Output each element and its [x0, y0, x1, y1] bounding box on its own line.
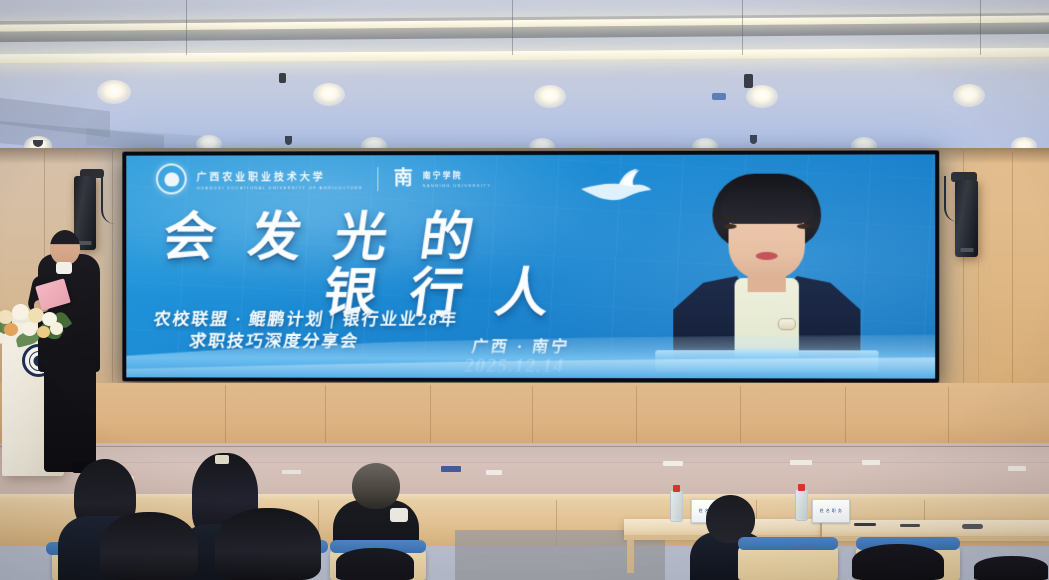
attendee-shirt-collar: [390, 508, 408, 522]
led-screen[interactable]: 广西农业职业技术大学 GUANGXI VOCATIONAL UNIVERSITY…: [122, 150, 939, 382]
floor-item: [663, 461, 683, 466]
water-bottle[interactable]: [795, 489, 808, 521]
logo-divider: [378, 167, 379, 191]
table-cable-port: [962, 524, 983, 529]
led-screen-surface: 广西农业职业技术大学 GUANGXI VOCATIONAL UNIVERSITY…: [126, 154, 935, 378]
attendee-head: [352, 463, 400, 509]
portrait-eye: [797, 224, 810, 229]
ceiling-emergency-sign: [712, 93, 726, 100]
floor-item: [1008, 466, 1026, 471]
ceiling-sensor: [285, 136, 292, 145]
ceiling-downlight: [313, 83, 345, 106]
water-bottle[interactable]: [670, 490, 683, 522]
floor-item: [282, 470, 301, 474]
attendee-head: [215, 508, 321, 580]
ceiling-downlight: [97, 80, 131, 104]
university-crest-icon: [156, 163, 187, 194]
floor-item: [862, 460, 880, 465]
projector-mount: [744, 74, 753, 88]
ceiling-downlight: [534, 85, 566, 108]
pen[interactable]: [854, 523, 876, 526]
ceiling: [0, 0, 1049, 152]
logo-right-name-en: NANNING UNIVERSITY: [423, 183, 492, 188]
portrait-eyebrow: [796, 217, 812, 220]
portrait-name-badge: [778, 318, 796, 330]
presenter-head: [50, 230, 80, 265]
portrait-eyebrow: [721, 217, 737, 220]
wall-speaker-right: [955, 180, 978, 257]
ceiling-sensor: [750, 135, 757, 144]
audience-chair-cushion: [738, 537, 838, 550]
screen-logo-bar: 广西农业职业技术大学 GUANGXI VOCATIONAL UNIVERSITY…: [156, 163, 491, 194]
presenter-legs: [44, 360, 96, 472]
ceiling-sensor: [279, 73, 286, 83]
logo-right-name-cn: 南宁学院: [423, 170, 492, 181]
portrait-eye: [723, 224, 736, 229]
conference-hall-photo: 广西农业职业技术大学 GUANGXI VOCATIONAL UNIVERSITY…: [0, 0, 1049, 580]
ceiling-light-strip-2: [0, 48, 1049, 64]
attendee-head: [852, 544, 944, 580]
name-placard-text: 姓 名 职 务: [820, 508, 843, 514]
floor-item: [441, 466, 461, 472]
logo-right-text: 南宁学院 NANNING UNIVERSITY: [423, 170, 492, 188]
ceiling-downlight: [746, 85, 778, 108]
name-placard: 姓 名 职 务: [812, 499, 850, 523]
portrait-mouth: [756, 252, 778, 260]
hair-clip-icon: [215, 455, 229, 464]
audience-chair[interactable]: [738, 545, 838, 580]
attendee-head: [100, 512, 198, 580]
speaker-cable: [944, 176, 958, 222]
presenter-collar: [56, 262, 72, 274]
logo-left-name-en: GUANGXI VOCATIONAL UNIVERSITY OF AGRICUL…: [197, 185, 363, 190]
logo-left-name-cn: 广西农业职业技术大学: [197, 168, 363, 183]
floor-item: [486, 470, 502, 475]
dove-icon: [579, 167, 653, 207]
logo-left-text: 广西农业职业技术大学 GUANGXI VOCATIONAL UNIVERSITY…: [197, 168, 363, 190]
logo-right-mark: 南: [394, 169, 413, 188]
ceiling-downlight: [953, 84, 985, 107]
pen[interactable]: [900, 524, 920, 527]
attendee-head: [706, 495, 755, 543]
floor-item: [790, 460, 812, 465]
flower-bouquet-icon: [0, 298, 72, 350]
wall-below-screen: [0, 383, 1049, 447]
attendee-head: [336, 548, 414, 580]
attendee-head: [974, 556, 1048, 580]
speaker-cable: [101, 172, 117, 224]
